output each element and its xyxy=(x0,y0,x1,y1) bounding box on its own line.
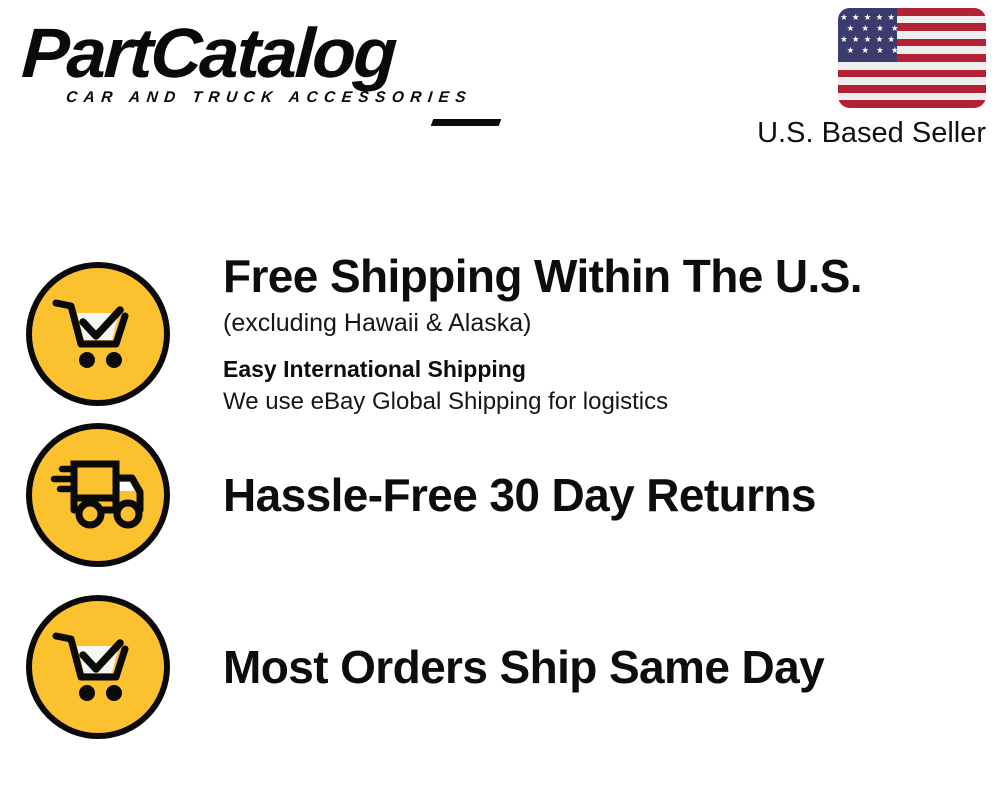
flag-canton: ★ ★ ★ ★ ★ ★ ★ ★ ★ ★ ★ ★ ★ ★ xyxy=(838,8,897,62)
shopping-cart-check-icon xyxy=(26,262,170,406)
feature-text: Hassle-Free 30 Day Returns xyxy=(195,469,1000,521)
seller-badge-label: U.S. Based Seller xyxy=(716,116,986,150)
feature-heading: Hassle-Free 30 Day Returns xyxy=(223,469,980,521)
feature-row: Hassle-Free 30 Day Returns xyxy=(0,420,1000,570)
seller-badge: ★ ★ ★ ★ ★ ★ ★ ★ ★ ★ ★ ★ ★ ★ xyxy=(716,8,986,150)
star-icon: ★ xyxy=(864,13,872,22)
feature-heading: Free Shipping Within The U.S. xyxy=(223,250,980,302)
star-icon: ★ xyxy=(852,13,860,22)
star-icon: ★ xyxy=(887,13,895,22)
feature-subtext-strong: Easy International Shipping xyxy=(223,354,980,385)
feature-text: Most Orders Ship Same Day xyxy=(195,641,1000,693)
flag-stripe xyxy=(838,70,986,78)
star-icon: ★ xyxy=(852,35,860,44)
star-icon: ★ xyxy=(876,13,884,22)
flag-stripe xyxy=(838,77,986,85)
flag-stripe xyxy=(838,100,986,108)
star-icon: ★ xyxy=(861,46,869,55)
shopping-cart-check-icon xyxy=(26,595,170,739)
brand-wordmark: PartCatalog xyxy=(20,18,503,88)
star-icon: ★ xyxy=(876,35,884,44)
star-icon: ★ xyxy=(891,46,899,55)
brand-underline-accent xyxy=(431,119,502,126)
feature-row: Free Shipping Within The U.S. (excluding… xyxy=(0,248,1000,420)
star-icon: ★ xyxy=(847,24,855,33)
star-icon: ★ xyxy=(887,35,895,44)
star-icon: ★ xyxy=(876,46,884,55)
feature-text: Free Shipping Within The U.S. (excluding… xyxy=(195,250,1000,418)
flag-stripe xyxy=(838,85,986,93)
us-flag-icon: ★ ★ ★ ★ ★ ★ ★ ★ ★ ★ ★ ★ ★ ★ xyxy=(838,8,986,108)
star-icon: ★ xyxy=(847,46,855,55)
flag-stripe xyxy=(838,93,986,101)
feature-icon-wrap xyxy=(0,262,195,406)
header: PartCatalog CAR AND TRUCK ACCESSORIES ★ … xyxy=(0,0,1000,175)
star-icon: ★ xyxy=(840,35,848,44)
feature-icon-wrap xyxy=(0,595,195,739)
brand-logo[interactable]: PartCatalog CAR AND TRUCK ACCESSORIES xyxy=(22,18,492,107)
feature-subtext: (excluding Hawaii & Alaska) xyxy=(223,306,980,340)
feature-subtext-note: We use eBay Global Shipping for logistic… xyxy=(223,386,980,418)
star-icon: ★ xyxy=(861,24,869,33)
feature-icon-wrap xyxy=(0,423,195,567)
feature-heading: Most Orders Ship Same Day xyxy=(223,641,980,693)
brand-tagline: CAR AND TRUCK ACCESSORIES xyxy=(65,89,493,107)
star-icon: ★ xyxy=(864,35,872,44)
flag-stripe xyxy=(838,62,986,70)
star-icon: ★ xyxy=(840,13,848,22)
star-icon: ★ xyxy=(891,24,899,33)
feature-row: Most Orders Ship Same Day xyxy=(0,592,1000,742)
delivery-truck-icon xyxy=(26,423,170,567)
star-icon: ★ xyxy=(876,24,884,33)
